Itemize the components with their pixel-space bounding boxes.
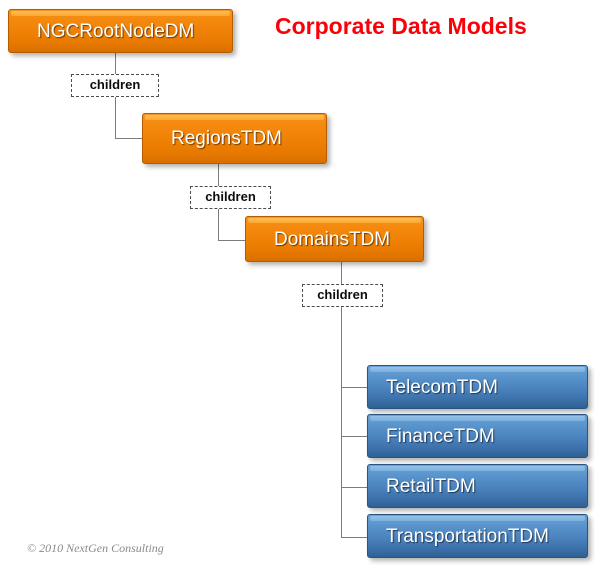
connector-root-to-regions-horizontal [115, 138, 143, 139]
node-retailtdm[interactable]: RetailTDM [367, 464, 588, 508]
node-label: RegionsTDM [171, 129, 282, 148]
node-telecomtdm[interactable]: TelecomTDM [367, 365, 588, 409]
node-label: TelecomTDM [386, 378, 498, 397]
connector-branch-transportation [341, 537, 368, 538]
connector-regions-to-domains-vertical [218, 209, 219, 241]
node-label: FinanceTDM [386, 427, 495, 446]
node-regionstdm[interactable]: RegionsTDM [142, 113, 327, 164]
node-domainstdm[interactable]: DomainsTDM [245, 216, 424, 262]
diagram-title: Corporate Data Models [275, 13, 527, 40]
node-label: NGCRootNodeDM [37, 22, 194, 41]
diagram-canvas: Corporate Data Models NGCRootNodeDM Regi… [0, 0, 605, 574]
connector-branch-retail [341, 487, 368, 488]
node-transportationtdm[interactable]: TransportationTDM [367, 514, 588, 558]
node-financetdm[interactable]: FinanceTDM [367, 414, 588, 458]
connector-regions-to-children-2-upper [218, 164, 219, 186]
node-label: TransportationTDM [386, 527, 549, 546]
connector-root-to-regions-vertical [115, 97, 116, 138]
node-gloss-highlight [370, 416, 585, 421]
node-label: DomainsTDM [274, 230, 390, 249]
node-gloss-highlight [248, 218, 421, 223]
connector-domains-leaf-trunk [341, 307, 342, 538]
node-gloss-highlight [145, 115, 324, 120]
node-label: RetailTDM [386, 477, 476, 496]
copyright-footer: © 2010 NextGen Consulting [27, 541, 164, 556]
edge-label-children-root-regions: children [71, 74, 159, 97]
connector-root-to-children-1-upper [115, 52, 116, 74]
connector-branch-telecom [341, 387, 368, 388]
node-gloss-highlight [11, 11, 230, 16]
node-ngcrootnodedm[interactable]: NGCRootNodeDM [8, 9, 233, 53]
node-gloss-highlight [370, 516, 585, 521]
connector-branch-finance [341, 436, 368, 437]
node-gloss-highlight [370, 367, 585, 372]
connector-regions-to-domains-horizontal [218, 240, 246, 241]
connector-domains-to-children-3-upper [341, 262, 342, 284]
edge-label-children-domains-leaves: children [302, 284, 383, 307]
node-gloss-highlight [370, 466, 585, 471]
edge-label-children-regions-domains: children [190, 186, 271, 209]
